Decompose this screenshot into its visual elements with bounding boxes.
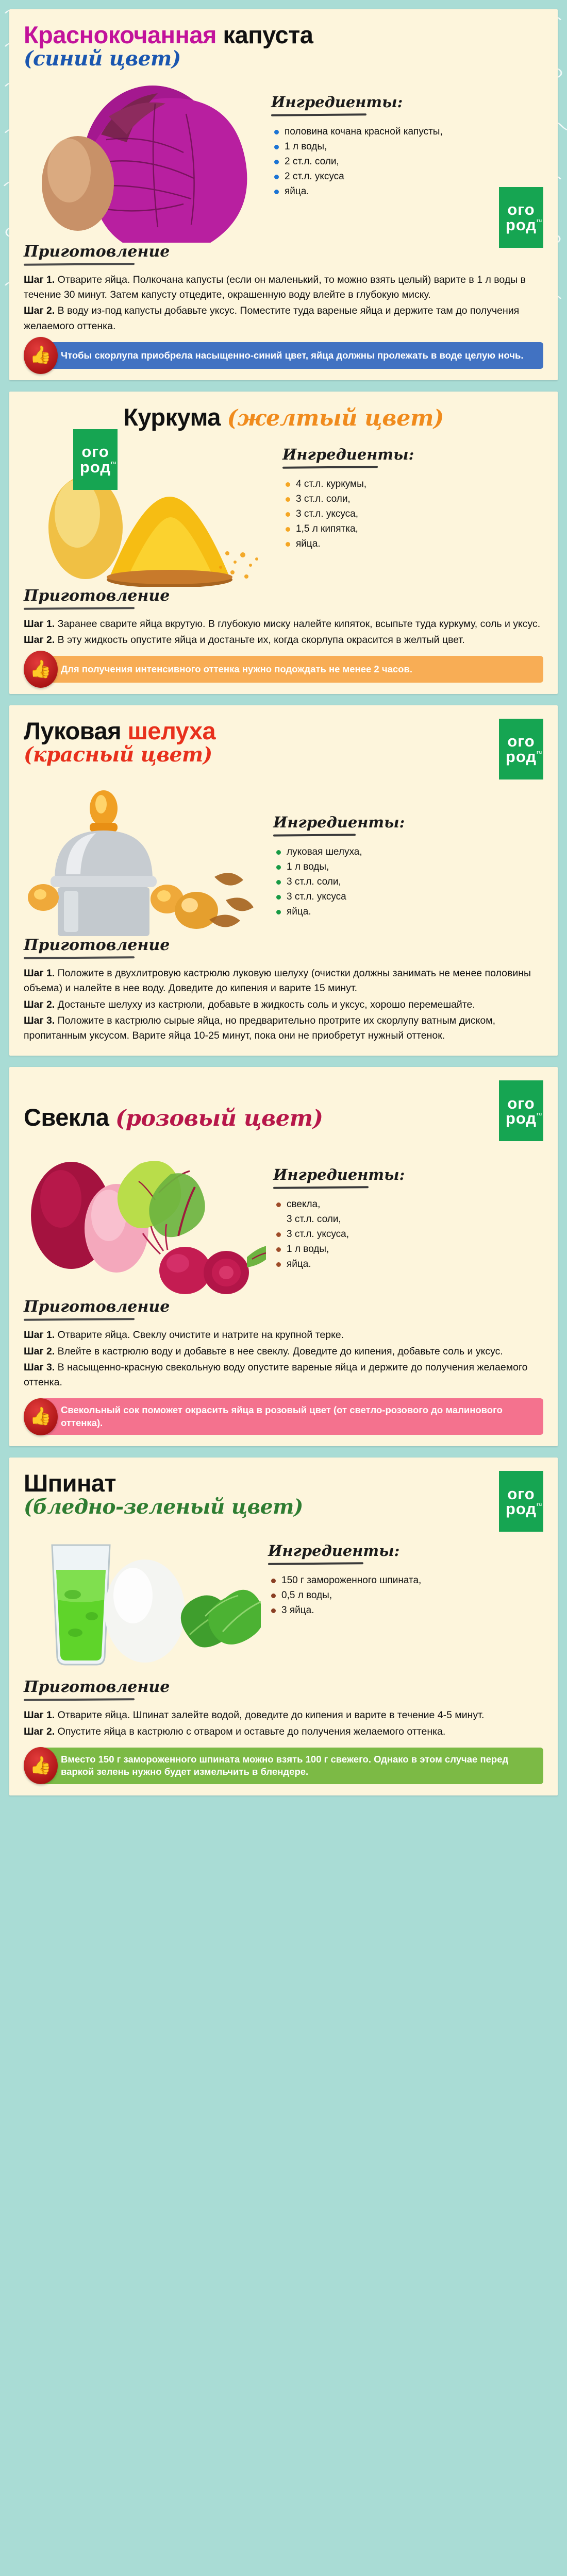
brand-logo[interactable]: ого родru <box>499 719 543 779</box>
bullet-dot <box>286 542 290 547</box>
step-label: Шаг 1. <box>24 968 55 979</box>
step-label: Шаг 3. <box>24 1362 55 1373</box>
step-item: Шаг 1. Отварите яйца. Свеклу очистите и … <box>24 1328 543 1343</box>
step-text: Положите в кастрюлю сырые яйца, но предв… <box>24 1015 495 1041</box>
step-text: В эту жидкость опустите яйца и достаньте… <box>55 634 464 646</box>
step-text: Заранее сварите яйца вкрутую. В глубокую… <box>55 618 540 630</box>
logo-tld: ru <box>537 750 542 755</box>
title-main: Шпинат <box>24 1469 116 1497</box>
brand-logo[interactable]: ого родru <box>499 1471 543 1532</box>
logo-line-1: ого <box>507 734 535 749</box>
ingredients-list-onion-peel: луковая шелуха, 1 л воды, 3 ст.л. соли, … <box>273 845 543 919</box>
list-item: 2 ст.л. уксуса <box>271 170 543 184</box>
logo-line-1: ого <box>507 1096 535 1111</box>
ingredient-text: 3 ст.л. соли, <box>287 1213 543 1227</box>
brand-logo[interactable]: ого родru <box>499 1080 543 1141</box>
bullet-dot <box>274 160 279 164</box>
step-text: Влейте в кастрюлю воду и добавьте в нее … <box>55 1346 503 1357</box>
ingredient-text: 2 ст.л. уксуса <box>285 170 543 184</box>
step-label: Шаг 2. <box>24 305 55 316</box>
bullet-dot <box>274 145 279 149</box>
list-item: 1 л воды, <box>273 1243 543 1257</box>
ingredient-text: 3 ст.л. уксуса <box>287 890 543 904</box>
heading-underline <box>271 113 366 116</box>
tip-text: Для получения интенсивного оттенка нужно… <box>61 663 412 675</box>
ingredients-heading: Ингредиенты: <box>273 1166 543 1183</box>
step-item: Шаг 1. Заранее сварите яйца вкрутую. В г… <box>24 617 543 632</box>
preparation-heading: Приготовление <box>24 587 543 605</box>
list-item: 150 г замороженного шпината, <box>268 1574 543 1588</box>
step-label: Шаг 2. <box>24 1726 55 1737</box>
bullet-dot <box>286 482 290 487</box>
list-item: 3 ст.л. соли, <box>282 493 543 506</box>
tip-text: Вместо 150 г замороженного шпината можно… <box>61 1753 534 1778</box>
step-label: Шаг 3. <box>24 1015 55 1026</box>
thumbs-up-icon: 👍 <box>24 1398 58 1435</box>
step-text: Положите в двухлитровую кастрюлю луковую… <box>24 968 531 994</box>
bullet-dot <box>276 1202 281 1207</box>
ingredient-text: яйца. <box>296 537 543 551</box>
logo-line-2: род <box>506 216 537 234</box>
list-item: луковая шелуха, <box>273 845 543 859</box>
bullet-dot <box>276 895 281 900</box>
step-label: Шаг 1. <box>24 1709 55 1721</box>
bullet-dot <box>276 880 281 885</box>
preparation-steps-red-cabbage: Шаг 1. Отварите яйца. Полкочана капусты … <box>24 273 543 334</box>
step-label: Шаг 1. <box>24 1329 55 1341</box>
bullet-dot <box>276 1232 281 1237</box>
step-item: Шаг 1. Отварите яйца. Шпинат залейте вод… <box>24 1708 543 1723</box>
card-title-onion-peel: Луковая шелуха <box>24 719 215 743</box>
logo-tld: ru <box>537 1112 542 1116</box>
preparation-steps-onion-peel: Шаг 1. Положите в двухлитровую кастрюлю … <box>24 966 543 1043</box>
heading-underline <box>24 263 135 266</box>
bullet-dot <box>276 850 281 855</box>
title-accent: Краснокочанная <box>24 21 216 48</box>
recipe-card-spinach: Шпинат (бледно-зеленый цвет) ого родru <box>9 1458 558 1795</box>
bullet-dot <box>286 512 290 517</box>
ingredients-list-beetroot: свекла, 3 ст.л. соли, 3 ст.л. уксуса, 1 … <box>273 1198 543 1272</box>
list-item: 1,5 л кипятка, <box>282 522 543 536</box>
recipe-card-red-cabbage: Краснокочанная капуста (синий цвет) <box>9 9 558 380</box>
ingredient-text: 3 ст.л. соли, <box>287 875 543 889</box>
logo-line-2: род <box>80 458 111 476</box>
tip-text: Чтобы скорлупа приобрела насыщенно-синий… <box>61 349 524 362</box>
step-label: Шаг 1. <box>24 274 55 285</box>
card-title-spinach: Шпинат <box>24 1471 303 1496</box>
heading-underline <box>273 834 356 837</box>
step-text: Достаньте шелуху из кастрюли, добавьте в… <box>55 999 475 1010</box>
step-text: В воду из-под капусты добавьте уксус. По… <box>24 305 519 331</box>
list-item: яйца. <box>273 905 543 919</box>
logo-line-1: ого <box>507 1486 535 1502</box>
beetroot-illustration <box>24 1143 266 1298</box>
tip-banner-spinach: 👍 Вместо 150 г замороженного шпината мож… <box>41 1748 543 1784</box>
heading-underline <box>24 1318 135 1321</box>
list-item: свекла, <box>273 1198 543 1212</box>
preparation-heading: Приготовление <box>24 936 543 954</box>
title-main: Луковая <box>24 717 128 744</box>
ingredients-heading: Ингредиенты: <box>273 814 543 831</box>
heading-underline <box>24 1699 135 1702</box>
card-title-beetroot: Свекла (розовый цвет) <box>24 1092 323 1130</box>
step-label: Шаг 2. <box>24 999 55 1010</box>
bullet-dot <box>274 175 279 179</box>
ingredient-text: 2 ст.л. соли, <box>285 155 543 169</box>
logo-tld: ru <box>111 461 116 465</box>
infographic-page: Краснокочанная капуста (синий цвет) <box>0 0 567 1819</box>
heading-underline <box>24 956 135 959</box>
bullet-dot <box>274 130 279 134</box>
ingredient-text: 3 ст.л. соли, <box>296 493 543 506</box>
step-label: Шаг 2. <box>24 634 55 646</box>
logo-tld: ru <box>537 218 542 223</box>
ingredient-text: яйца. <box>287 905 543 919</box>
brand-logo[interactable]: ого родru <box>499 187 543 248</box>
step-text: Отварите яйца. Полкочана капусты (если о… <box>24 274 526 300</box>
step-text: В насыщенно-красную свекольную воду опус… <box>24 1362 528 1388</box>
ingredient-text: 150 г замороженного шпината, <box>281 1574 543 1588</box>
ingredients-heading: Ингредиенты: <box>268 1542 543 1560</box>
logo-line-1: ого <box>507 202 535 217</box>
bullet-dot <box>276 1247 281 1252</box>
spinach-glass-illustration <box>24 1534 261 1678</box>
preparation-steps-beetroot: Шаг 1. Отварите яйца. Свеклу очистите и … <box>24 1328 543 1390</box>
ingredient-text: луковая шелуха, <box>287 845 543 859</box>
card-title-turmeric: Куркума (желтый цвет) <box>24 405 543 430</box>
logo-line-1: ого <box>81 444 109 460</box>
bullet-dot <box>271 1608 276 1613</box>
heading-underline <box>24 607 135 610</box>
list-item: 3 яйца. <box>268 1604 543 1618</box>
step-item: Шаг 2. Достаньте шелуху из кастрюли, доб… <box>24 997 543 1012</box>
list-item: 3 ст.л. уксуса <box>273 890 543 904</box>
list-item: 1 л воды, <box>273 860 543 874</box>
ingredient-text: 1 л воды, <box>285 140 543 154</box>
thumbs-up-icon: 👍 <box>24 651 58 688</box>
list-item: яйца. <box>273 1258 543 1272</box>
ingredient-text: 3 ст.л. уксуса, <box>296 507 543 521</box>
step-item: Шаг 1. Отварите яйца. Полкочана капусты … <box>24 273 543 303</box>
preparation-heading: Приготовление <box>24 1298 543 1316</box>
step-text: Отварите яйца. Свеклу очистите и натрите… <box>55 1329 344 1341</box>
step-text: Опустите яйца в кастрюлю с отваром и ост… <box>55 1726 445 1737</box>
bullet-dot <box>276 910 281 914</box>
preparation-heading: Приготовление <box>24 1678 543 1696</box>
ingredient-text: 4 ст.л. куркумы, <box>296 478 543 492</box>
card-subtitle: (розовый цвет) <box>115 1106 323 1131</box>
bullet-dot <box>276 1262 281 1267</box>
list-item: половина кочана красной капусты, <box>271 125 543 139</box>
brand-logo[interactable]: ого родru <box>73 429 118 490</box>
bullet-dot <box>286 527 290 532</box>
list-item: 0,5 л воды, <box>268 1589 543 1603</box>
tip-banner-red-cabbage: 👍 Чтобы скорлупа приобрела насыщенно-син… <box>41 342 543 369</box>
page-title: Краснокочанная капуста <box>24 23 313 47</box>
bullet-dot <box>271 1579 276 1583</box>
bullet-dot <box>286 497 290 502</box>
ingredient-text: половина кочана красной капусты, <box>285 125 543 139</box>
step-label: Шаг 2. <box>24 1346 55 1357</box>
list-item: 1 л воды, <box>271 140 543 154</box>
title-rest: капуста <box>216 21 313 48</box>
recipe-card-beetroot: Свекла (розовый цвет) ого родru <box>9 1067 558 1446</box>
logo-line-2: род <box>506 1109 537 1127</box>
heading-underline <box>273 1187 369 1190</box>
list-item: 2 ст.л. соли, <box>271 155 543 169</box>
red-cabbage-illustration <box>24 73 266 243</box>
bullet-dot <box>274 190 279 194</box>
step-item: Шаг 1. Положите в двухлитровую кастрюлю … <box>24 966 543 996</box>
tip-banner-turmeric: 👍 Для получения интенсивного оттенка нуж… <box>41 656 543 683</box>
bullet-dot <box>271 1594 276 1598</box>
step-item: Шаг 2. В эту жидкость опустите яйца и до… <box>24 633 543 648</box>
step-item: Шаг 2. Влейте в кастрюлю воду и добавьте… <box>24 1344 543 1359</box>
step-item: Шаг 2. Опустите яйца в кастрюлю с отваро… <box>24 1724 543 1739</box>
card-subtitle: (желтый цвет) <box>227 405 444 431</box>
title-accent: шелуха <box>128 717 216 744</box>
bullet-dot <box>276 1217 281 1222</box>
heading-underline <box>282 466 378 469</box>
step-item: Шаг 2. В воду из-под капусты добавьте ук… <box>24 303 543 334</box>
ingredients-heading: Ингредиенты: <box>271 93 543 111</box>
ingredient-text: 1 л воды, <box>287 1243 543 1257</box>
onion-peel-pot-illustration <box>24 782 261 936</box>
preparation-heading: Приготовление <box>24 243 543 261</box>
ingredient-text: 3 яйца. <box>281 1604 543 1618</box>
list-item: 3 ст.л. соли, <box>273 1213 543 1227</box>
ingredients-heading: Ингредиенты: <box>282 446 543 463</box>
card-subtitle: (красный цвет) <box>24 744 215 766</box>
ingredient-text: свекла, <box>287 1198 543 1212</box>
heading-underline <box>268 1562 363 1565</box>
card-subtitle: (бледно-зеленый цвет) <box>24 1497 303 1518</box>
ingredient-text: 1,5 л кипятка, <box>296 522 543 536</box>
thumbs-up-icon: 👍 <box>24 337 58 374</box>
ingredient-text: 3 ст.л. уксуса, <box>287 1228 543 1242</box>
thumbs-up-icon: 👍 <box>24 1747 58 1784</box>
recipe-card-turmeric: Куркума (желтый цвет) <box>9 392 558 694</box>
list-item: 4 ст.л. куркумы, <box>282 478 543 492</box>
step-item: Шаг 3. Положите в кастрюлю сырые яйца, н… <box>24 1013 543 1044</box>
ingredients-list-spinach: 150 г замороженного шпината, 0,5 л воды,… <box>268 1574 543 1618</box>
logo-line-2: род <box>506 748 537 766</box>
logo-tld: ru <box>537 1502 542 1507</box>
title-main: Свекла <box>24 1104 109 1131</box>
list-item: 3 ст.л. соли, <box>273 875 543 889</box>
bullet-dot <box>276 865 281 870</box>
ingredient-text: 0,5 л воды, <box>281 1589 543 1603</box>
tip-text: Свекольный сок поможет окрасить яйца в р… <box>61 1404 534 1429</box>
card-subtitle: (синий цвет) <box>24 48 313 70</box>
ingredient-text: 1 л воды, <box>287 860 543 874</box>
preparation-steps-turmeric: Шаг 1. Заранее сварите яйца вкрутую. В г… <box>24 617 543 648</box>
step-text: Отварите яйца. Шпинат залейте водой, дов… <box>55 1709 484 1721</box>
logo-line-2: род <box>506 1500 537 1518</box>
ingredients-list-turmeric: 4 ст.л. куркумы, 3 ст.л. соли, 3 ст.л. у… <box>282 478 543 551</box>
list-item: 3 ст.л. уксуса, <box>282 507 543 521</box>
tip-banner-beetroot: 👍 Свекольный сок поможет окрасить яйца в… <box>41 1398 543 1435</box>
ingredient-text: яйца. <box>287 1258 543 1272</box>
recipe-card-onion-peel: Луковая шелуха (красный цвет) ого родru <box>9 705 558 1056</box>
list-item: яйца. <box>282 537 543 551</box>
title-main: Куркума <box>123 403 221 431</box>
preparation-steps-spinach: Шаг 1. Отварите яйца. Шпинат залейте вод… <box>24 1708 543 1739</box>
list-item: 3 ст.л. уксуса, <box>273 1228 543 1242</box>
turmeric-illustration: ого родru <box>24 432 276 587</box>
step-label: Шаг 1. <box>24 618 55 630</box>
step-item: Шаг 3. В насыщенно-красную свекольную во… <box>24 1360 543 1391</box>
